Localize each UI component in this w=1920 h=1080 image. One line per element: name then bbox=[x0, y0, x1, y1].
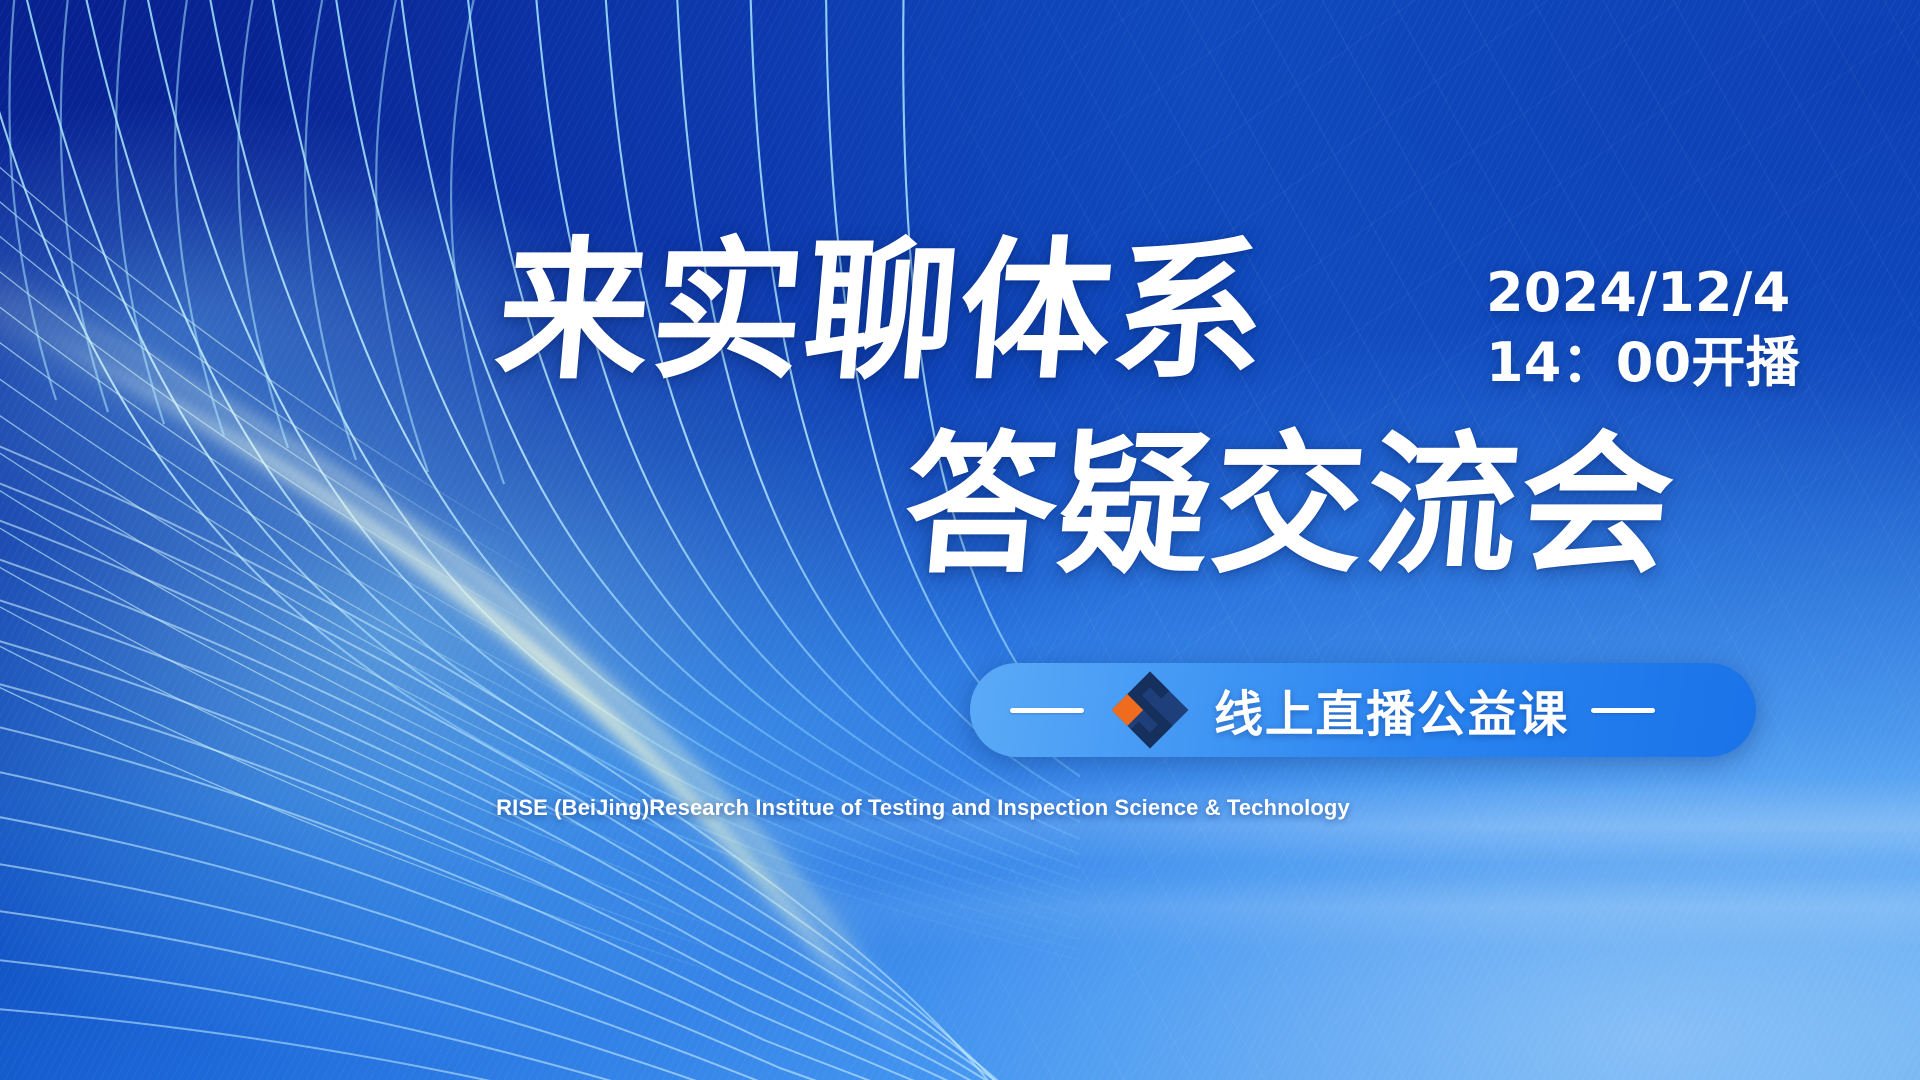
badge-label: 线上直播公益课 bbox=[1214, 675, 1569, 746]
broadcast-date: 2024/12/4 bbox=[1486, 258, 1800, 328]
headline-line-2: 答疑交流会 bbox=[898, 430, 1680, 582]
rise-diamond-logo-icon bbox=[1110, 670, 1190, 750]
organization-name: RISE (BeiJing)Research Institue of Testi… bbox=[0, 795, 1920, 821]
organization-name-text: RISE (BeiJing)Research Institue of Testi… bbox=[496, 795, 1350, 821]
dash-rule-icon bbox=[1591, 708, 1655, 713]
headline-line-1: 来实聊体系 bbox=[491, 236, 1273, 388]
promo-banner: 来实聊体系 答疑交流会 2024/12/4 14：00开播 线 bbox=[0, 0, 1920, 1080]
banner-content: 来实聊体系 答疑交流会 2024/12/4 14：00开播 线 bbox=[0, 0, 1920, 1080]
broadcast-time: 14：00开播 bbox=[1486, 328, 1800, 398]
dash-rule-icon bbox=[1010, 708, 1084, 713]
schedule-block: 2024/12/4 14：00开播 bbox=[1486, 258, 1800, 398]
livestream-badge: 线上直播公益课 bbox=[970, 663, 1756, 757]
